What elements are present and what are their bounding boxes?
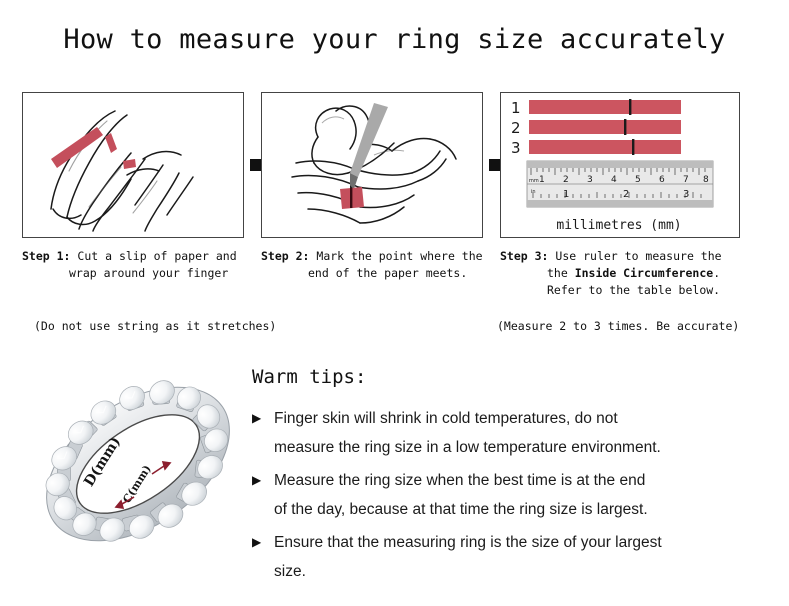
step-3-line2: the Inside Circumference. <box>500 265 762 282</box>
pen-shape <box>350 103 388 193</box>
ruler-caption: millimetres (mm) <box>556 218 681 233</box>
svg-text:7: 7 <box>683 175 689 185</box>
step-1-caption: Step 1: Cut a slip of paper and wrap aro… <box>22 248 252 282</box>
triangle-bullet-icon: ▶ <box>252 528 261 557</box>
step-2-caption: Step 2: Mark the point where the end of … <box>261 248 493 282</box>
step-3-line2-suffix: . <box>713 266 720 280</box>
svg-text:2: 2 <box>563 175 569 185</box>
warm-tip-2-line1: Measure the ring size when the best time… <box>274 466 772 495</box>
step-3-label: Step 3: <box>500 249 548 263</box>
step-2-label: Step 2: <box>261 249 309 263</box>
strip-number-2: 2 <box>511 119 521 137</box>
warm-tip-1-line2: measure the ring size in a low temperatu… <box>274 433 772 462</box>
measured-strip-2 <box>529 120 681 134</box>
svg-text:2: 2 <box>623 189 629 200</box>
steps-illustration-row: 1 2 3 <box>22 92 767 240</box>
svg-text:6: 6 <box>659 175 665 185</box>
eternity-ring-illustration-icon: D(mm) C(mm) <box>18 352 258 580</box>
triangle-bullet-icon: ▶ <box>252 466 261 495</box>
svg-text:mm: mm <box>529 178 539 184</box>
svg-text:3: 3 <box>683 189 689 200</box>
step-1-line1: Cut a slip of paper and <box>77 249 236 263</box>
measured-strip-3 <box>529 140 681 154</box>
step-2-line1: Mark the point where the <box>316 249 482 263</box>
step-3-line3: Refer to the table below. <box>500 282 762 299</box>
triangle-bullet-icon: ▶ <box>252 404 261 433</box>
warm-tip-2-line2: of the day, because at that time the rin… <box>274 495 772 524</box>
step-3-illustration-panel: 1 2 3 <box>500 92 740 238</box>
step-2-illustration-panel <box>261 92 483 238</box>
svg-text:1: 1 <box>539 175 545 185</box>
measured-strip-1 <box>529 100 681 114</box>
strip-mark-1 <box>629 99 631 115</box>
warm-tip-item-1: ▶ Finger skin will shrink in cold temper… <box>252 404 772 462</box>
warm-tips-heading: Warm tips: <box>252 366 772 388</box>
warm-tip-item-2: ▶ Measure the ring size when the best ti… <box>252 466 772 524</box>
step-3-caption: Step 3: Use ruler to measure the the Ins… <box>500 248 762 299</box>
strip-mark-2 <box>624 119 626 135</box>
strip-number-3: 3 <box>511 139 521 157</box>
svg-text:4: 4 <box>611 175 617 185</box>
inside-circumference-emphasis: Inside Circumference <box>575 266 713 280</box>
warm-tip-item-3: ▶ Ensure that the measuring ring is the … <box>252 528 772 586</box>
svg-text:3: 3 <box>587 175 593 185</box>
warm-tip-3-line2: size. <box>274 557 772 586</box>
step-1-illustration-panel <box>22 92 244 238</box>
warm-tips-section: Warm tips: ▶ Finger skin will shrink in … <box>252 366 772 590</box>
svg-text:8: 8 <box>703 175 709 185</box>
warm-tip-3-line1: Ensure that the measuring ring is the si… <box>274 528 772 557</box>
strip-mark-3 <box>632 139 634 155</box>
warm-tip-1-line1: Finger skin will shrink in cold temperat… <box>274 404 772 433</box>
step-1-line2: wrap around your finger <box>22 265 252 282</box>
svg-text:5: 5 <box>635 175 641 185</box>
paper-strip-shape <box>340 187 364 209</box>
step-2-line2: end of the paper meets. <box>261 265 493 282</box>
step-3-note: (Measure 2 to 3 times. Be accurate) <box>497 319 739 333</box>
ring-diagram: D(mm) C(mm) <box>18 352 258 580</box>
ruler-shape: 12 34 56 78 mm 12 3 in <box>527 161 713 207</box>
step-1-label: Step 1: <box>22 249 70 263</box>
svg-text:1: 1 <box>563 189 569 200</box>
paper-strip-shape <box>51 127 103 168</box>
hand-marking-paper-icon <box>262 93 482 237</box>
strips-with-ruler-icon: 1 2 3 <box>501 93 739 237</box>
hand-with-paper-strip-icon <box>23 93 243 237</box>
strip-number-1: 1 <box>511 99 521 117</box>
page-title: How to measure your ring size accurately <box>0 24 789 55</box>
step-3-line1: Use ruler to measure the <box>555 249 721 263</box>
step-3-line2-prefix: the <box>547 266 575 280</box>
step-1-note: (Do not use string as it stretches) <box>34 319 276 333</box>
